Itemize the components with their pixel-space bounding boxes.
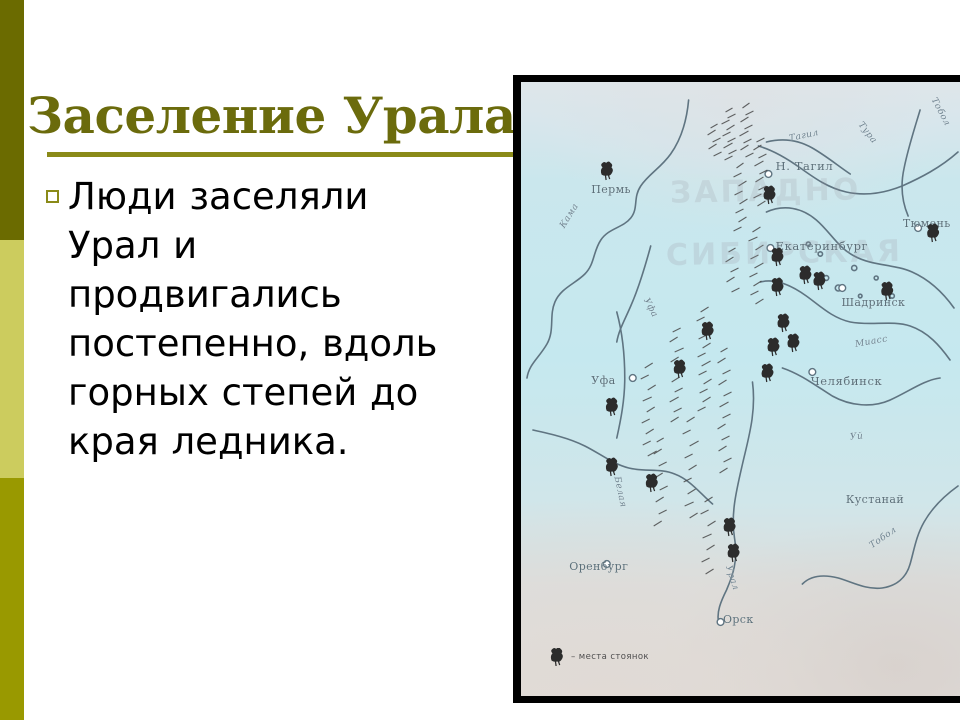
list-item: Люди заселяли Урал и продвигались постеп… (46, 172, 466, 466)
title-underline-rule (47, 152, 513, 157)
camp-site-icon (549, 648, 565, 666)
slide-body: Люди заселяли Урал и продвигались постеп… (46, 172, 466, 466)
map-image: ЗАПАДНО СИБИРСКАЯ Пермь Н. Тагил Екатери… (521, 82, 960, 696)
bullet-text: Люди заселяли Урал и продвигались постеп… (68, 172, 466, 466)
map-figure-frame: ЗАПАДНО СИБИРСКАЯ Пермь Н. Тагил Екатери… (513, 75, 960, 703)
slide-canvas: Заселение Урала Люди заселяли Урал и про… (0, 0, 960, 720)
slide-title: Заселение Урала (27, 88, 511, 144)
decorative-sidebar (0, 0, 24, 720)
sidebar-band-mid (0, 478, 24, 720)
square-bullet-icon (46, 190, 59, 203)
map-legend-label: – места стоянок (571, 652, 649, 662)
sidebar-band-light (0, 240, 24, 478)
camp-site-markers (521, 82, 960, 696)
sidebar-band-dark (0, 0, 24, 240)
